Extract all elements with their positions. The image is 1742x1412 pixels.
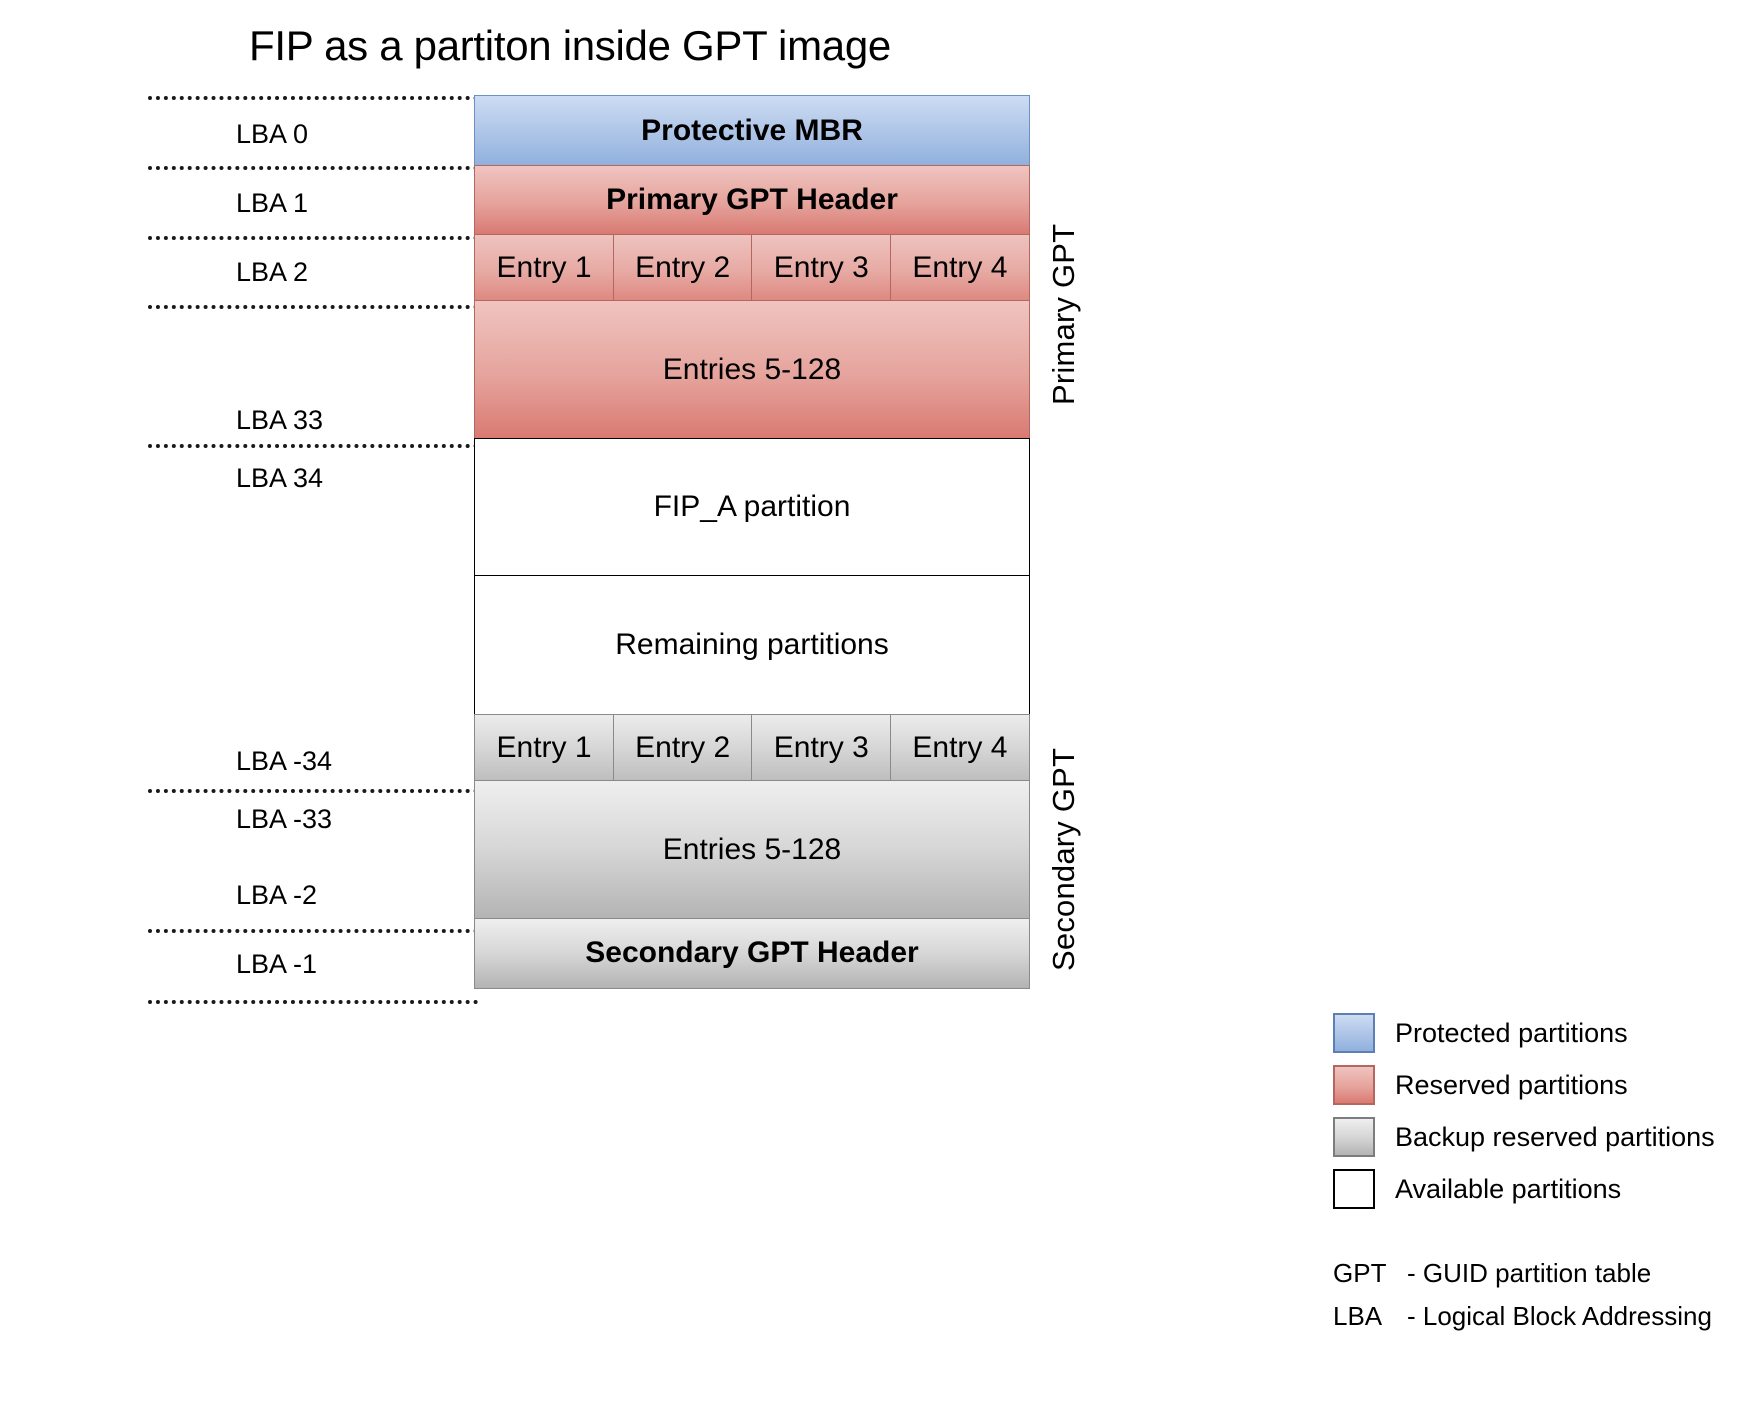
primary-entries-1-4: Entry 1Entry 2Entry 3Entry 4: [474, 234, 1030, 302]
partition-entry-cell: Entry 4: [890, 714, 1030, 782]
legend-row: Available partitions: [1333, 1164, 1733, 1214]
partition-entry-cell: Entry 3: [751, 234, 891, 302]
partition-entry-cell: Entry 2: [613, 234, 753, 302]
legend-swatch-red: [1333, 1065, 1375, 1105]
legend-row: Backup reserved partitions: [1333, 1112, 1733, 1162]
secondary-entries-5-128: Entries 5-128: [474, 780, 1030, 919]
gpt-layout-stack: Protective MBRPrimary GPT HeaderEntry 1E…: [474, 96, 1030, 989]
legend-swatch-white: [1333, 1169, 1375, 1209]
lba-label: LBA 34: [236, 465, 323, 492]
page-title: FIP as a partiton inside GPT image: [0, 22, 1140, 70]
abbreviation-key: LBA: [1333, 1301, 1407, 1332]
secondary-entries-1-4: Entry 1Entry 2Entry 3Entry 4: [474, 714, 1030, 782]
partition-entry-cell: Entry 2: [613, 714, 753, 782]
legend-swatch-blue: [1333, 1013, 1375, 1053]
protective-mbr: Protective MBR: [474, 95, 1030, 167]
legend-label: Backup reserved partitions: [1395, 1122, 1715, 1153]
legend-label: Protected partitions: [1395, 1018, 1628, 1049]
lba-label: LBA -34: [236, 748, 332, 775]
legend-swatch-grey: [1333, 1117, 1375, 1157]
legend-row: Reserved partitions: [1333, 1060, 1733, 1110]
primary-gpt-header: Primary GPT Header: [474, 165, 1030, 235]
abbreviation-row: LBA- Logical Block Addressing: [1333, 1301, 1733, 1332]
abbreviation-key: GPT: [1333, 1258, 1407, 1289]
primary-entries-5-128: Entries 5-128: [474, 300, 1030, 439]
lba-label: LBA 2: [236, 259, 308, 286]
abbreviation-description: - GUID partition table: [1407, 1258, 1651, 1289]
lba-label: LBA 33: [236, 407, 323, 434]
lba-label: LBA -1: [236, 951, 317, 978]
partition-entry-cell: Entry 4: [890, 234, 1030, 302]
legend: Protected partitionsReserved partitionsB…: [1333, 1008, 1733, 1216]
legend-label: Reserved partitions: [1395, 1070, 1628, 1101]
abbreviation-row: GPT- GUID partition table: [1333, 1258, 1733, 1289]
lba-label: LBA -33: [236, 806, 332, 833]
lba-label-column: LBA 0LBA 1LBA 2LBA 33LBA 34LBA -34LBA -3…: [148, 95, 474, 1005]
secondary-gpt-bracket-label: Secondary GPT: [1046, 718, 1082, 1000]
legend-label: Available partitions: [1395, 1174, 1621, 1205]
partition-entry-cell: Entry 1: [474, 234, 614, 302]
lba-label: LBA 0: [236, 121, 308, 148]
lba-label: LBA -2: [236, 882, 317, 909]
partition-entry-cell: Entry 3: [751, 714, 891, 782]
remaining-partitions: Remaining partitions: [474, 575, 1030, 715]
fip-a-partition: FIP_A partition: [474, 438, 1030, 577]
lba-label: LBA 1: [236, 190, 308, 217]
legend-row: Protected partitions: [1333, 1008, 1733, 1058]
primary-gpt-bracket-label: Primary GPT: [1046, 186, 1082, 442]
secondary-gpt-header: Secondary GPT Header: [474, 918, 1030, 989]
abbreviations-note: GPT- GUID partition tableLBA- Logical Bl…: [1333, 1258, 1733, 1344]
partition-entry-cell: Entry 1: [474, 714, 614, 782]
abbreviation-description: - Logical Block Addressing: [1407, 1301, 1712, 1332]
